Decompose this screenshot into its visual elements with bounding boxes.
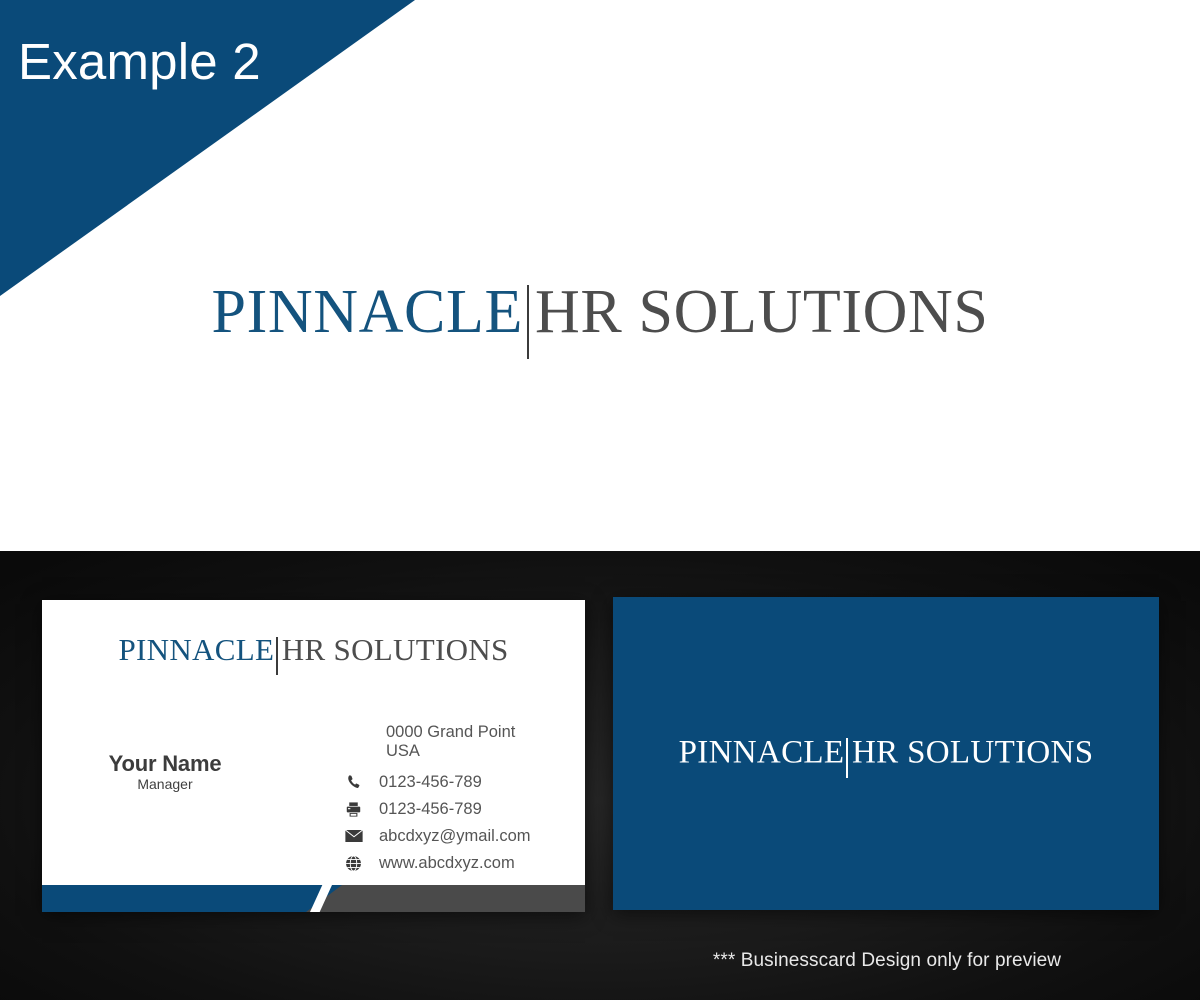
contact-row: 0123-456-789 <box>345 796 575 823</box>
presentation-canvas: Example 2 PINNACLEHR SOLUTIONS PINNACLEH… <box>0 0 1200 1000</box>
phone-icon <box>345 774 379 791</box>
brand-divider-icon <box>846 738 848 778</box>
card-identity-block: Your Name Manager <box>50 752 280 793</box>
card-front-logo: PINNACLEHR SOLUTIONS <box>42 634 585 672</box>
contact-row: www.abcdxyz.com <box>345 850 575 877</box>
example-label: Example 2 <box>18 33 261 92</box>
email-icon <box>345 829 379 843</box>
brand-divider-icon <box>276 637 278 675</box>
brand-secondary-word: HR SOLUTIONS <box>282 632 509 667</box>
hero-logo: PINNACLEHR SOLUTIONS <box>0 281 1200 355</box>
contact-email-value: abcdxyz@ymail.com <box>379 828 531 845</box>
card-front-bottom-stripe <box>42 885 585 912</box>
card-address: 0000 Grand Point USA <box>386 723 575 762</box>
card-contact-block: 0000 Grand Point USA 0123-456-789 <box>345 723 575 877</box>
contact-row: abcdxyz@ymail.com <box>345 823 575 850</box>
stripe-blue-segment <box>42 885 342 912</box>
card-back-logo: PINNACLEHR SOLUTIONS <box>613 735 1159 775</box>
contact-phone-value: 0123-456-789 <box>379 774 482 791</box>
contact-row: 0123-456-789 <box>345 769 575 796</box>
contact-fax-value: 0123-456-789 <box>379 801 482 818</box>
brand-divider-icon <box>527 285 529 359</box>
contact-rows: 0123-456-789 0123-456-789 <box>345 769 575 877</box>
person-title: Manager <box>50 776 280 793</box>
business-card-back: PINNACLEHR SOLUTIONS <box>613 597 1159 910</box>
brand-secondary-word: HR SOLUTIONS <box>852 735 1093 771</box>
contact-website-value: www.abcdxyz.com <box>379 855 515 872</box>
brand-logo: PINNACLEHR SOLUTIONS <box>118 634 508 672</box>
preview-note: *** Businesscard Design only for preview <box>614 950 1160 972</box>
brand-logo: PINNACLEHR SOLUTIONS <box>679 735 1094 775</box>
brand-primary-word: PINNACLE <box>679 735 845 771</box>
header-panel: Example 2 PINNACLEHR SOLUTIONS <box>0 0 1200 551</box>
fax-icon <box>345 801 379 818</box>
globe-icon <box>345 855 379 872</box>
brand-logo: PINNACLEHR SOLUTIONS <box>211 281 988 355</box>
person-name: Your Name <box>50 752 280 775</box>
brand-primary-word: PINNACLE <box>118 632 274 667</box>
brand-primary-word: PINNACLE <box>211 278 523 346</box>
brand-secondary-word: HR SOLUTIONS <box>535 278 989 346</box>
